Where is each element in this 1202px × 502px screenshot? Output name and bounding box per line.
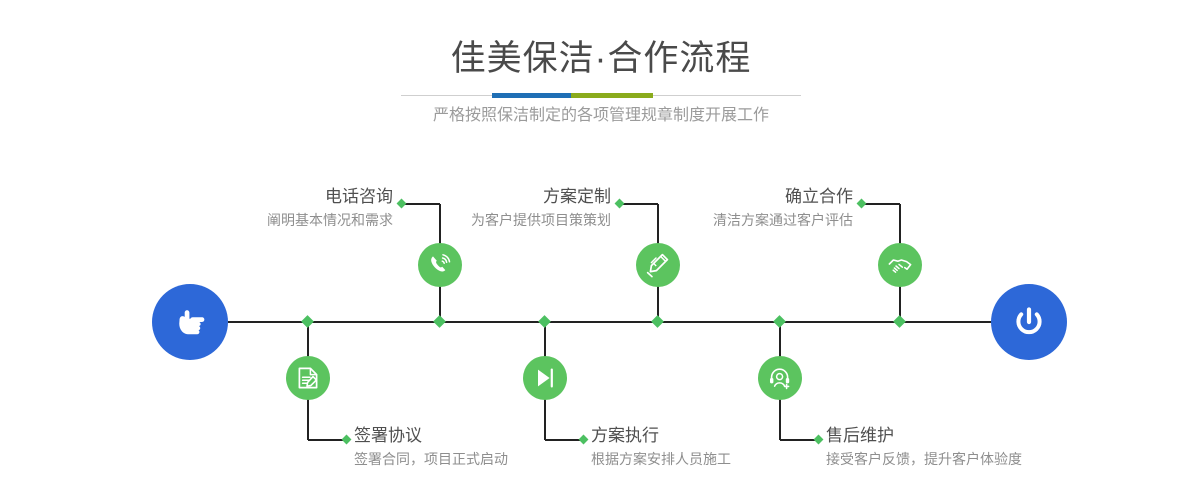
step-label-top-2: 方案定制 为客户提供项目策策划: [370, 186, 611, 230]
label-node-bottom-1: [342, 435, 352, 445]
step-icon-play-next[interactable]: [523, 356, 567, 400]
document-edit-icon: [295, 365, 321, 391]
headset-support-icon: [767, 365, 793, 391]
step-label-top-3: 确立合作 清洁方案通过客户评估: [610, 186, 853, 230]
step-title: 售后维护: [826, 425, 1106, 447]
step-icon-handshake[interactable]: [878, 243, 922, 287]
power-button-icon: [1009, 302, 1049, 342]
step-desc: 为客户提供项目策策划: [370, 210, 611, 230]
step-desc: 接受客户反馈，提升客户体验度: [826, 449, 1106, 469]
connector-horizontal-bottom-3: [780, 439, 817, 441]
rail-node-bottom-1: [301, 315, 314, 328]
step-title: 方案定制: [370, 186, 611, 208]
label-node-top-3: [857, 199, 867, 209]
step-icon-document-edit[interactable]: [286, 356, 330, 400]
handshake-icon: [887, 252, 913, 278]
rail-node-bottom-2: [538, 315, 551, 328]
step-icon-headset-support[interactable]: [758, 356, 802, 400]
play-next-icon: [532, 365, 558, 391]
pointing-hand-icon: [170, 302, 210, 342]
connector-horizontal-bottom-2: [545, 439, 582, 441]
rail-node-bottom-3: [773, 315, 786, 328]
step-title: 确立合作: [610, 186, 853, 208]
step-desc: 阐明基本情况和需求: [150, 210, 393, 230]
step-desc: 签署合同，项目正式启动: [354, 449, 614, 469]
pencil-ruler-icon: [645, 252, 671, 278]
step-desc: 清洁方案通过客户评估: [610, 210, 853, 230]
timeline-rail: [228, 321, 1000, 323]
flow-start-node[interactable]: [152, 284, 228, 360]
step-title: 签署协议: [354, 425, 614, 447]
step-label-bottom-2: 方案执行 根据方案安排人员施工: [591, 425, 851, 469]
step-label-bottom-1: 签署协议 签署合同，项目正式启动: [354, 425, 614, 469]
phone-call-icon: [427, 252, 453, 278]
rail-node-top-1: [433, 315, 446, 328]
step-label-bottom-3: 售后维护 接受客户反馈，提升客户体验度: [826, 425, 1106, 469]
step-label-top-1: 电话咨询 阐明基本情况和需求: [150, 186, 393, 230]
flow-diagram-page: 佳美保洁·合作流程 严格按照保洁制定的各项管理规章制度开展工作: [0, 0, 1202, 502]
connector-horizontal-bottom-1: [308, 439, 345, 441]
connector-horizontal-top-3: [863, 203, 900, 205]
process-flow: 电话咨询 阐明基本情况和需求 方案定制 为客户提供项目策策划: [0, 0, 1202, 502]
step-icon-pencil-ruler[interactable]: [636, 243, 680, 287]
step-desc: 根据方案安排人员施工: [591, 449, 851, 469]
flow-end-node[interactable]: [991, 284, 1067, 360]
step-icon-phone-call[interactable]: [418, 243, 462, 287]
step-title: 方案执行: [591, 425, 851, 447]
step-title: 电话咨询: [150, 186, 393, 208]
rail-node-top-3: [893, 315, 906, 328]
rail-node-top-2: [651, 315, 664, 328]
